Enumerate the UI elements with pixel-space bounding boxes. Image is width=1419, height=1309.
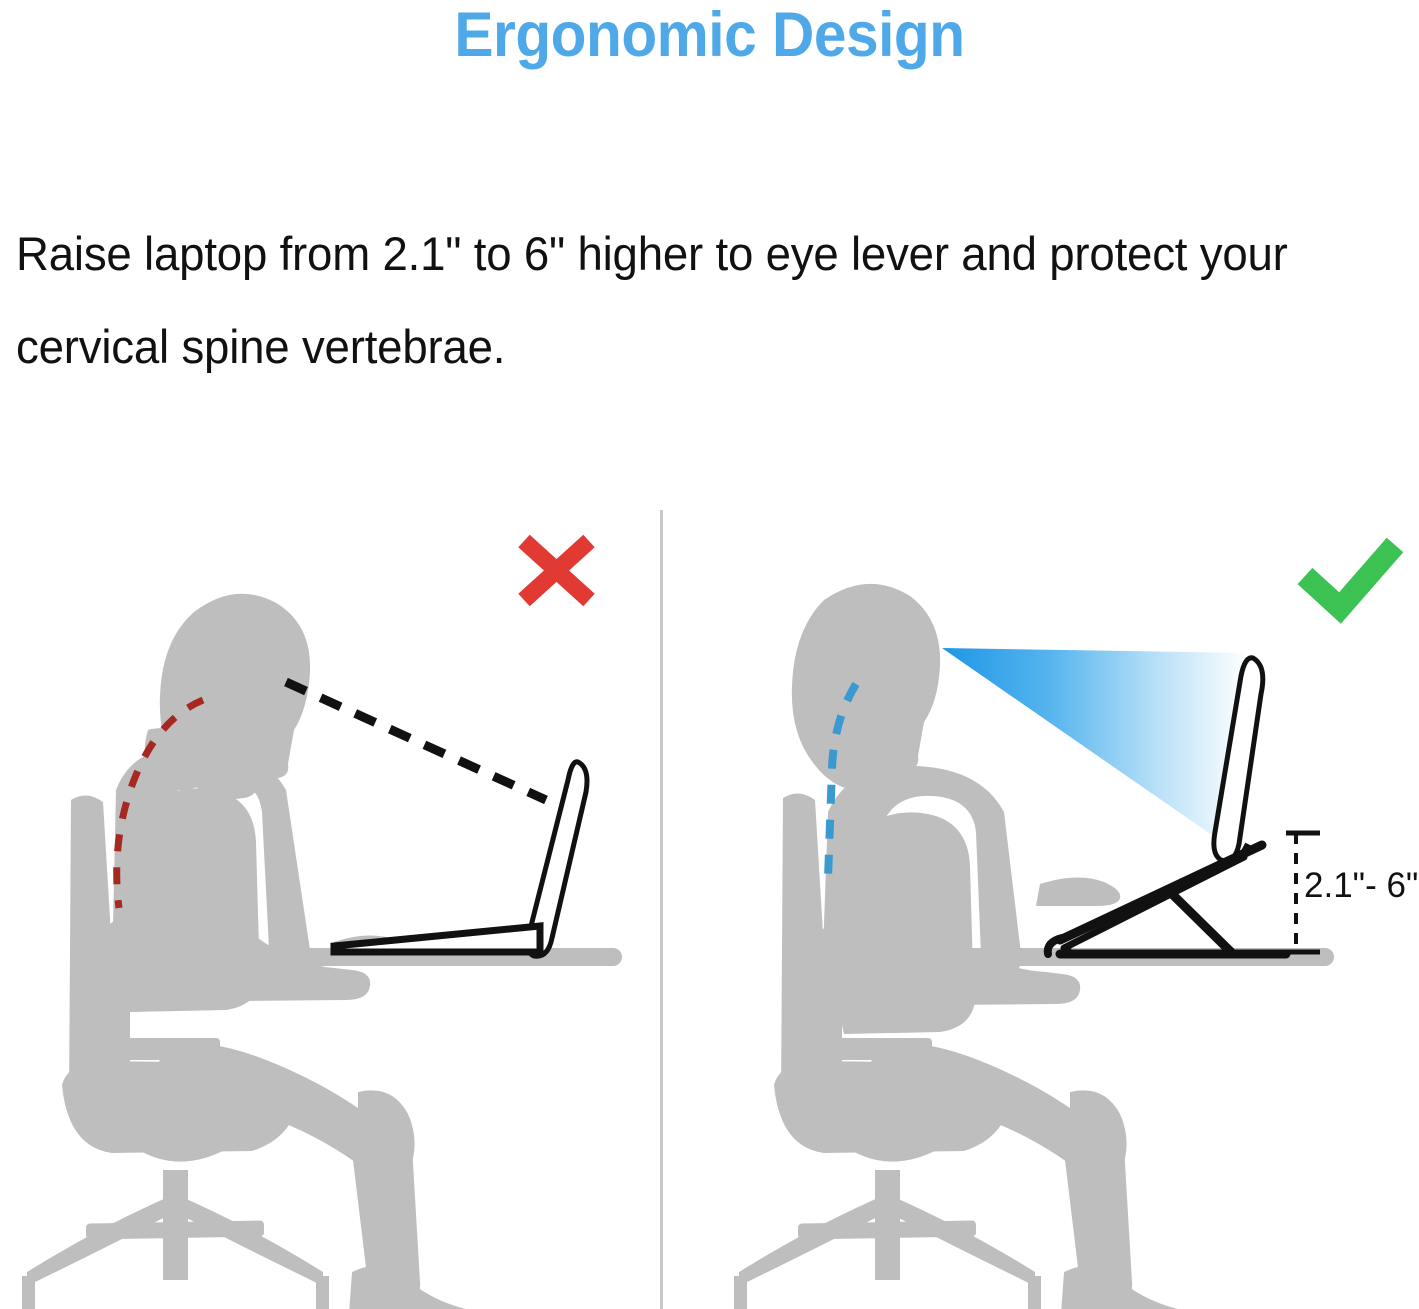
dimension-label: 2.1"- 6" xyxy=(1304,868,1418,903)
spine-curve-right xyxy=(828,684,856,878)
panel-left-incorrect xyxy=(22,541,622,1309)
spine-curve-left xyxy=(117,700,203,908)
sight-line-left xyxy=(286,682,546,800)
page-title: Ergonomic Design xyxy=(50,0,1370,67)
desk-surface-left xyxy=(232,948,622,966)
illustration-area: 2.1"- 6" xyxy=(0,0,1419,1309)
desk-surface-right xyxy=(944,948,1334,966)
vision-cone xyxy=(942,648,1248,858)
person-figure-left xyxy=(92,594,500,1309)
office-chair-left xyxy=(22,795,329,1309)
panel-right-correct xyxy=(734,545,1395,1309)
dimension-annotation xyxy=(1286,833,1320,952)
intro-paragraph: Raise laptop from 2.1" to 6" higher to e… xyxy=(16,207,1364,393)
check-icon xyxy=(1305,545,1395,608)
panel-divider xyxy=(660,510,663,1309)
laptop-flat-left xyxy=(334,762,587,956)
person-figure-right xyxy=(792,584,1212,1309)
laptop-on-stand-right xyxy=(1048,658,1286,954)
cross-icon xyxy=(524,541,589,600)
header-block: Ergonomic Design Raise laptop from 2.1" … xyxy=(0,0,1419,67)
office-chair-right xyxy=(734,793,1041,1309)
